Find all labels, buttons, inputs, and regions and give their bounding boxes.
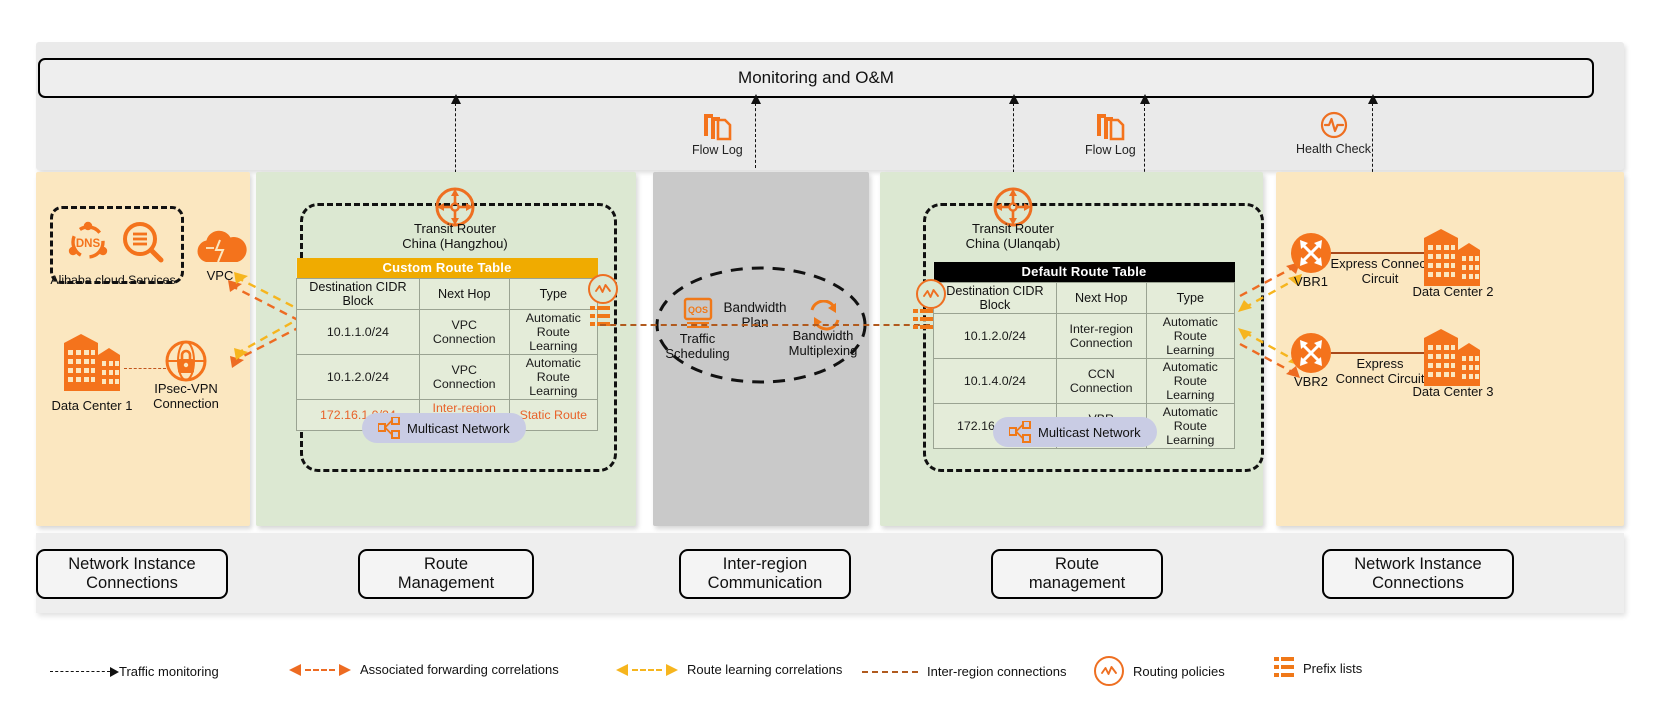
legend-item-prefix-lists: Prefix lists <box>1274 656 1362 680</box>
legend-label: Inter-region connections <box>927 664 1066 679</box>
legend-label: Routing policies <box>1133 664 1225 679</box>
data-center-1-icon <box>58 333 124 395</box>
dashed-arrow-icon <box>50 671 110 672</box>
cell-type: Automatic Route Learning <box>1146 359 1234 404</box>
cell-type: Automatic Route Learning <box>509 310 597 355</box>
traffic-monitoring-arrow-2 <box>755 103 756 168</box>
cell-next-hop: VPC Connection <box>419 355 509 400</box>
multicast-icon <box>378 417 400 439</box>
monitoring-item-label: Flow Log <box>692 143 743 157</box>
legend-item-traffic-monitoring: Traffic monitoring <box>50 664 219 679</box>
express-connect-line-2 <box>1331 352 1429 354</box>
legend-item-route-learning: Route learning correlations <box>616 662 842 677</box>
cell-type: Automatic Route Learning <box>1146 404 1234 449</box>
multicast-icon <box>1009 421 1031 443</box>
cell-type: Automatic Route Learning <box>1146 314 1234 359</box>
tag-route-management-right: Routemanagement <box>991 549 1163 599</box>
transit-router-hangzhou-label: Transit Router China (Hangzhou) <box>366 221 544 251</box>
traffic-scheduling-label: Traffic Scheduling <box>660 331 735 361</box>
column-header-type: Type <box>1146 283 1234 314</box>
monitoring-item-flow-log-1: Flow Log <box>692 112 743 157</box>
flow-log-icon <box>700 112 734 142</box>
express-connect-line-1 <box>1331 252 1429 254</box>
column-header-cidr: Destination CIDR Block <box>934 283 1057 314</box>
monitoring-title: Monitoring and O&M <box>738 68 894 88</box>
data-center-3-icon <box>1418 328 1484 390</box>
legend-label: Traffic monitoring <box>119 664 219 679</box>
legend-item-routing-policies: Routing policies <box>1094 656 1225 686</box>
cell-next-hop: Inter-region Connection <box>1056 314 1146 359</box>
health-check-icon <box>1319 111 1349 141</box>
multicast-label: Multicast Network <box>407 421 510 436</box>
legend-label: Route learning correlations <box>687 662 842 677</box>
table-row: 10.1.2.0/24 VPC Connection Automatic Rou… <box>297 355 598 400</box>
monitoring-item-health-check: Health Check <box>1296 111 1371 156</box>
diagram-canvas: Monitoring and O&M Flow Log Flow Log <box>0 0 1660 727</box>
cell-next-hop: VPC Connection <box>419 310 509 355</box>
routing-policies-icon <box>1094 656 1124 686</box>
dc1-ipsec-link <box>124 368 166 369</box>
cell-cidr: 10.1.2.0/24 <box>297 355 420 400</box>
transit-router-ulanqab-label: Transit Router China (Ulanqab) <box>924 221 1102 251</box>
column-header-type: Type <box>509 279 597 310</box>
monitoring-item-label: Flow Log <box>1085 143 1136 157</box>
log-search-icon <box>118 218 166 264</box>
tag-network-instance-connections-right: Network InstanceConnections <box>1322 549 1514 599</box>
tag-inter-region-communication: Inter-regionCommunication <box>679 549 851 599</box>
custom-route-table: Custom Route Table Destination CIDR Bloc… <box>296 258 598 431</box>
monitoring-item-label: Health Check <box>1296 142 1371 156</box>
legend-label: Associated forwarding correlations <box>360 662 559 677</box>
table-row: 10.1.4.0/24 CCN Connection Automatic Rou… <box>934 359 1235 404</box>
prefix-lists-icon <box>913 308 933 332</box>
multicast-network-left: Multicast Network <box>362 413 526 443</box>
data-center-2-icon <box>1418 228 1484 290</box>
left-correlation-arrows <box>170 250 310 390</box>
dashed-line-icon <box>862 671 918 673</box>
prefix-lists-icon <box>1274 656 1294 680</box>
cell-next-hop: CCN Connection <box>1056 359 1146 404</box>
cell-cidr: 10.1.1.0/24 <box>297 310 420 355</box>
flow-log-icon <box>1093 112 1127 142</box>
table-row: 10.1.2.0/24 Inter-region Connection Auto… <box>934 314 1235 359</box>
route-table-title: Custom Route Table <box>297 258 598 279</box>
inter-region-connection-line <box>600 324 930 326</box>
legend-item-associated-forwarding: Associated forwarding correlations <box>289 662 559 677</box>
monitoring-item-flow-log-2: Flow Log <box>1085 112 1136 157</box>
column-header-next-hop: Next Hop <box>419 279 509 310</box>
table-row: 10.1.1.0/24 VPC Connection Automatic Rou… <box>297 310 598 355</box>
cell-cidr: 10.1.2.0/24 <box>934 314 1057 359</box>
dns-icon: DNS <box>64 218 112 264</box>
bidirectional-dashed-arrow-icon <box>616 664 678 676</box>
data-center-2-label: Data Center 2 <box>1398 284 1508 299</box>
data-center-3-label: Data Center 3 <box>1398 384 1508 399</box>
svg-text:DNS: DNS <box>76 238 101 250</box>
tag-route-management-left: RouteManagement <box>358 549 534 599</box>
bidirectional-dashed-arrow-icon <box>289 664 351 676</box>
svg-text:QOS: QOS <box>688 305 708 315</box>
legend: Traffic monitoring Associated forwarding… <box>36 655 1624 695</box>
monitoring-title-box: Monitoring and O&M <box>38 58 1594 98</box>
legend-label: Prefix lists <box>1303 661 1362 676</box>
data-center-1-label: Data Center 1 <box>42 398 142 413</box>
alibaba-cloud-services-label: Alibaba cloud Services <box>38 273 188 287</box>
bandwidth-multiplexing-label: Bandwidth Multiplexing <box>768 328 878 358</box>
cell-type: Automatic Route Learning <box>509 355 597 400</box>
routing-policies-icon <box>588 274 618 304</box>
multicast-network-right: Multicast Network <box>993 417 1157 447</box>
tag-network-instance-connections-left: Network InstanceConnections <box>36 549 228 599</box>
legend-item-inter-region-connections: Inter-region connections <box>862 664 1066 679</box>
cell-cidr: 10.1.4.0/24 <box>934 359 1057 404</box>
routing-policies-icon <box>916 279 946 309</box>
multicast-label: Multicast Network <box>1038 425 1141 440</box>
route-table-title: Default Route Table <box>934 262 1235 283</box>
column-header-cidr: Destination CIDR Block <box>297 279 420 310</box>
column-header-next-hop: Next Hop <box>1056 283 1146 314</box>
